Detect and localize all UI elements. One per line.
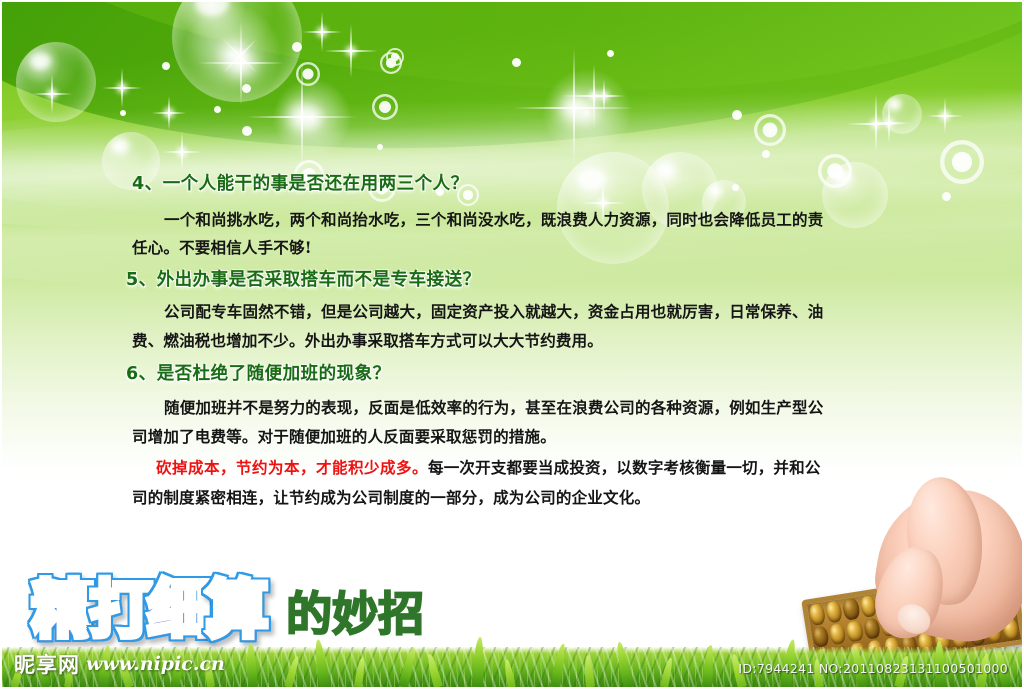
section-heading-6: 6、是否杜绝了随便加班的现象？ <box>126 360 391 385</box>
section-heading-text-6: 是否杜绝了随便加班的现象？ <box>157 364 391 384</box>
poster-canvas: 4、一个人能干的事是否还在用两三个人？ 一个和尚挑水吃，两个和尚抬水吃，三个和尚… <box>0 0 1024 689</box>
section-number-6: 6、 <box>126 364 157 384</box>
abacus-bead <box>842 598 860 621</box>
paragraph-text: 公司配专车固然不错，但是公司越大，固定资产投入就越大，资金占用也就厉害，日常保养… <box>164 302 823 321</box>
section-heading-text-4: 一个人能干的事是否还在用两三个人？ <box>163 174 469 194</box>
hand-pinching-icon <box>860 469 1024 639</box>
section-heading-5: 5、外出办事是否采取搭车而不是专车接送？ <box>126 266 481 291</box>
section-number-5: 5、 <box>126 270 157 290</box>
section-heading-4: 4、一个人能干的事是否还在用两三个人？ <box>132 170 469 195</box>
abacus-bead <box>808 603 826 626</box>
closing-text: 司的制度紧密相连，让节约成为公司制度的一部分，成为公司的企业文化。 <box>132 488 650 507</box>
abacus-bead <box>825 600 843 623</box>
section-paragraph-line: 公司配专车固然不错，但是公司越大，固定资产投入就越大，资金占用也就厉害，日常保养… <box>132 300 823 322</box>
closing-rest-text: 每一次开支都要当成投资，以数字考核衡量一切，并和公 <box>428 458 821 477</box>
closing-highlight-text: 砍掉成本，节约为本，才能积少成多。 <box>156 459 428 477</box>
paragraph-text: 费、燃油税也增加不少。外出办事采取搭车方式可以大大节约费用。 <box>132 331 603 350</box>
paragraph-text: 任心。不要相信人手不够! <box>132 238 312 257</box>
grass-icon <box>2 631 1024 687</box>
paragraph-text: 司增加了电费等。对于随便加班的人反面要采取惩罚的措施。 <box>132 427 556 446</box>
section-paragraph-line: 一个和尚挑水吃，两个和尚抬水吃，三个和尚没水吃，既浪费人力资源，同时也会降低员工… <box>132 208 823 230</box>
hand-edge-fade <box>860 469 1024 639</box>
section-paragraph-line: 随便加班并不是努力的表现，反面是低效率的行为，甚至在浪费公司的各种资源，例如生产… <box>132 396 823 418</box>
section-paragraph-line: 任心。不要相信人手不够! <box>132 236 312 258</box>
paragraph-text: 一个和尚挑水吃，两个和尚抬水吃，三个和尚没水吃，既浪费人力资源，同时也会降低员工… <box>164 210 823 229</box>
section-paragraph-line: 费、燃油税也增加不少。外出办事采取搭车方式可以大大节约费用。 <box>132 329 603 351</box>
closing-line-1: 砍掉成本，节约为本，才能积少成多。每一次开支都要当成投资，以数字考核衡量一切，并… <box>132 456 821 478</box>
section-heading-text-5: 外出办事是否采取搭车而不是专车接送？ <box>157 270 481 290</box>
section-paragraph-line: 司增加了电费等。对于随便加班的人反面要采取惩罚的措施。 <box>132 425 556 447</box>
paragraph-text: 随便加班并不是努力的表现，反面是低效率的行为，甚至在浪费公司的各种资源，例如生产… <box>164 398 823 417</box>
section-number-4: 4、 <box>132 174 163 194</box>
closing-line-2: 司的制度紧密相连，让节约成为公司制度的一部分，成为公司的企业文化。 <box>132 486 650 508</box>
grass-blade <box>472 637 485 687</box>
